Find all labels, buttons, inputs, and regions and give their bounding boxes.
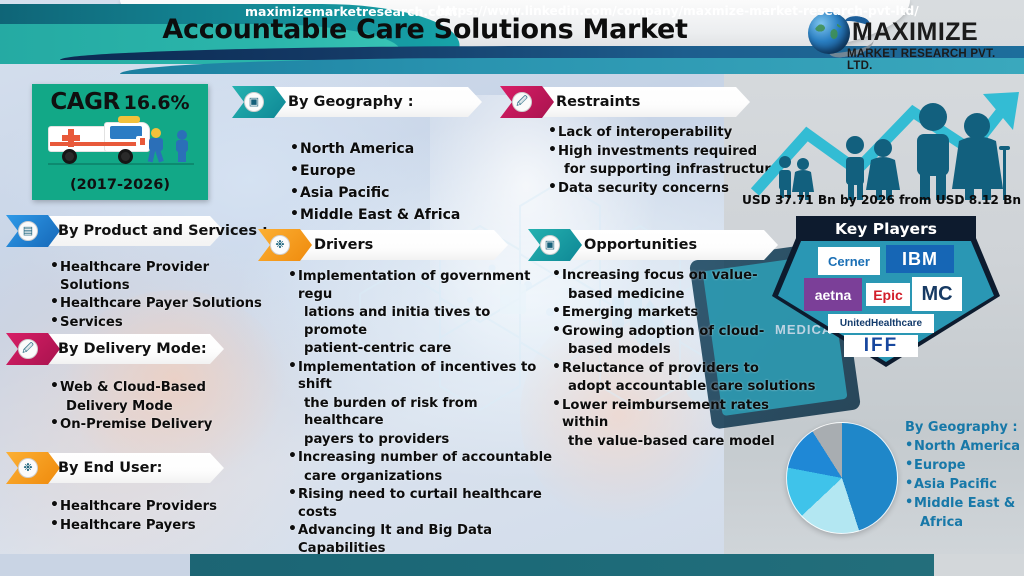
- footer-website[interactable]: maximizemarketresearch.com: [245, 0, 457, 22]
- logo-mc[interactable]: MC: [912, 277, 962, 311]
- geography-right-legend: By Geography : North America Europe Asia…: [905, 418, 1023, 532]
- logo-name: MAXIMIZE: [852, 18, 978, 47]
- cagr-headline: CAGR16.6%: [32, 84, 208, 115]
- list-item: Europe: [905, 456, 1023, 475]
- footer-linkedin-link[interactable]: https://www.linkedin.com/company/maxmize…: [437, 0, 919, 22]
- cagr-label: CAGR: [50, 89, 119, 115]
- footer-right-cap: [934, 554, 1024, 576]
- list-item: Healthcare Providers: [50, 498, 250, 516]
- list-geography: North America Europe Asia Pacific Middle…: [290, 139, 520, 227]
- list-drivers: Implementation of government regu lation…: [288, 268, 553, 576]
- section-header-geography[interactable]: ▣ By Geography :: [232, 86, 482, 118]
- list-item: Europe: [290, 161, 520, 182]
- logo-cerner[interactable]: Cerner: [818, 247, 880, 275]
- document-edit-icon: 🖉: [512, 92, 532, 112]
- ambulance-icon: [48, 120, 194, 166]
- footer-left-cap: [0, 554, 190, 576]
- list-item: Asia Pacific: [290, 183, 520, 204]
- section-title-geography: By Geography :: [288, 86, 414, 118]
- growth-chart: [745, 88, 1024, 204]
- section-header-opportunities[interactable]: ▣ Opportunities: [528, 229, 778, 261]
- section-header-product-services[interactable]: ▤ By Product and Services :: [6, 215, 224, 247]
- list-item: North America: [905, 437, 1023, 456]
- section-header-end-user[interactable]: ❉ By End User:: [6, 452, 224, 484]
- key-players-title: Key Players: [796, 216, 976, 241]
- list-item: North America: [290, 139, 520, 160]
- list-item: payers to providers: [288, 431, 553, 449]
- archive-box-icon: ▣: [540, 235, 560, 255]
- paramedic-icon: [146, 128, 168, 162]
- list-item: On-Premise Delivery: [50, 416, 250, 434]
- list-item: the value-based care model: [552, 433, 817, 451]
- document-edit-icon: 🖉: [18, 339, 38, 359]
- logo-unitedhealthcare[interactable]: UnitedHealthcare: [828, 314, 934, 333]
- list-item: Asia Pacific: [905, 475, 1023, 494]
- list-item: Web & Cloud-Based: [50, 379, 250, 397]
- list-product-services: Healthcare Provider Solutions Healthcare…: [50, 259, 265, 332]
- section-title-end-user: By End User:: [58, 452, 162, 484]
- patient-icon: [174, 130, 192, 162]
- list-item: the burden of risk from healthcare: [288, 395, 553, 430]
- list-item: Middle East & Africa: [290, 205, 520, 226]
- section-title-delivery-mode: By Delivery Mode:: [58, 333, 207, 365]
- list-item: Middle East &: [905, 494, 1023, 513]
- network-nodes-icon: ❉: [18, 458, 38, 478]
- list-item: Rising need to curtail healthcare costs: [288, 486, 553, 521]
- cagr-period: (2017-2026): [32, 177, 208, 193]
- section-header-drivers[interactable]: ❉ Drivers: [258, 229, 508, 261]
- list-end-user: Healthcare Providers Healthcare Payers: [50, 498, 250, 535]
- population-figures-icon: [745, 88, 1024, 204]
- logo-subtitle: MARKET RESEARCH PVT. LTD.: [847, 48, 1015, 72]
- section-header-restraints[interactable]: 🖉 Restraints: [500, 86, 750, 118]
- infographic-root: MEDICAL Accountable Care Solutions Marke…: [0, 0, 1024, 576]
- network-nodes-icon: ❉: [270, 235, 290, 255]
- list-item: Advancing It and Big Data Capabilities: [288, 522, 553, 557]
- logo-aetna[interactable]: aetna: [804, 278, 862, 311]
- cagr-value: 16.6%: [124, 92, 190, 114]
- list-item: Lower reimbursement rates within: [552, 397, 817, 432]
- logo-iff[interactable]: IFF: [844, 335, 918, 357]
- list-item: Implementation of incentives to shift: [288, 359, 553, 394]
- list-item: adopt accountable care solutions: [552, 378, 817, 396]
- list-item: Services: [50, 314, 265, 332]
- section-title-product-services: By Product and Services :: [58, 215, 268, 247]
- geography-right-title: By Geography :: [905, 418, 1023, 437]
- list-item: Implementation of government regu: [288, 268, 553, 303]
- list-item: Increasing number of accountable: [288, 449, 553, 467]
- section-header-delivery-mode[interactable]: 🖉 By Delivery Mode:: [6, 333, 224, 365]
- list-delivery-mode: Web & Cloud-Based Delivery Mode On-Premi…: [50, 379, 250, 435]
- list-item: Healthcare Provider Solutions: [50, 259, 265, 294]
- section-title-drivers: Drivers: [314, 229, 373, 261]
- list-item: Healthcare Payer Solutions: [50, 295, 265, 313]
- logo-ibm[interactable]: IBM: [886, 245, 954, 273]
- archive-box-icon: ▣: [244, 92, 264, 112]
- list-item: lations and initia tives to promote: [288, 304, 553, 339]
- pie-slices: [786, 422, 898, 534]
- logo-epic[interactable]: Epic: [866, 283, 910, 306]
- geography-pie-chart: [786, 422, 898, 534]
- key-players-panel: Key Players Cerner IBM aetna Epic MC Uni…: [772, 219, 1000, 367]
- section-title-opportunities: Opportunities: [584, 229, 697, 261]
- calendar-icon: ▤: [18, 221, 38, 241]
- section-title-restraints: Restraints: [556, 86, 640, 118]
- list-item: Africa: [905, 513, 1023, 532]
- list-item: patient-centric care: [288, 340, 553, 358]
- list-item: Healthcare Payers: [50, 517, 250, 535]
- list-item: care organizations: [288, 468, 553, 486]
- list-item: Delivery Mode: [50, 398, 250, 416]
- cagr-card: CAGR16.6% (2017-2026): [32, 84, 208, 200]
- growth-caption: USD 37.71 Bn by 2026 from USD 8.12 Bn in…: [742, 193, 1024, 207]
